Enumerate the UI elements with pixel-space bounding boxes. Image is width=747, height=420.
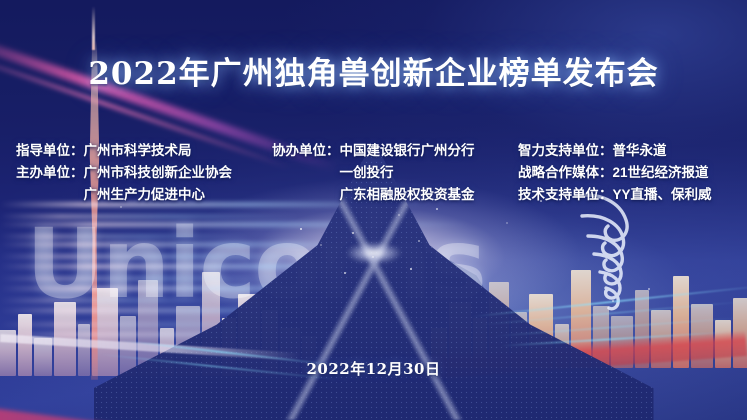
sparkle <box>344 272 346 274</box>
sparkle <box>300 228 302 230</box>
credits-column-left: 指导单位：广州市科学技术局主办单位：广州市科技创新企业协会主办单位：广州生产力促… <box>16 140 232 206</box>
credit-row: 指导单位：广州市科学技术局 <box>16 140 232 162</box>
event-date: 2022年12月30日 <box>0 358 747 379</box>
credit-value: 广州市科学技术局 <box>84 140 192 162</box>
credit-value: YY直播、保利威 <box>613 184 712 206</box>
light-streak <box>0 298 240 303</box>
credit-value: 普华永道 <box>613 140 667 162</box>
credit-row: 智力支持单位：普华永道 <box>518 140 712 162</box>
event-poster: Unicorns 2022年广州独角兽创新企业榜单发布会 指导单位：广州市科学技… <box>0 0 747 420</box>
credit-row: 协办单位：一创投行 <box>272 162 475 184</box>
sparkle <box>648 288 650 290</box>
credits-column-right: 智力支持单位：普华永道战略合作媒体：21世纪经济报道技术支持单位：YY直播、保利… <box>518 140 712 206</box>
sparkle <box>612 300 614 302</box>
credit-value: 广州生产力促进中心 <box>84 184 206 206</box>
sponsor-credits: 指导单位：广州市科学技术局主办单位：广州市科技创新企业协会主办单位：广州生产力促… <box>0 140 747 218</box>
credit-row: 技术支持单位：YY直播、保利威 <box>518 184 712 206</box>
credit-row: 主办单位：广州市科技创新企业协会 <box>16 162 232 184</box>
credit-value: 21世纪经济报道 <box>613 162 709 184</box>
credit-label: 技术支持单位： <box>518 184 613 206</box>
credit-row: 战略合作媒体：21世纪经济报道 <box>518 162 712 184</box>
credit-row: 主办单位：广州生产力促进中心 <box>16 184 232 206</box>
credit-label: 智力支持单位： <box>518 140 613 162</box>
credit-label: 战略合作媒体： <box>518 162 613 184</box>
light-streak <box>0 276 280 281</box>
credits-column-middle: 协办单位：中国建设银行广州分行协办单位：一创投行协办单位：广东相融股权投资基金 <box>272 140 475 206</box>
sparkle <box>320 244 322 246</box>
credit-row: 协办单位：中国建设银行广州分行 <box>272 140 475 162</box>
sparkle <box>372 256 374 258</box>
credit-row: 协办单位：广东相融股权投资基金 <box>272 184 475 206</box>
light-streak <box>0 234 250 239</box>
credit-value: 广州市科技创新企业协会 <box>84 162 233 184</box>
sparkle <box>352 232 354 234</box>
credit-value: 广东相融股权投资基金 <box>340 184 475 206</box>
credit-value: 一创投行 <box>340 162 394 184</box>
light-streak <box>0 254 330 259</box>
credit-label: 指导单位： <box>16 140 84 162</box>
sparkle <box>506 222 508 224</box>
credit-value: 中国建设银行广州分行 <box>340 140 475 162</box>
page-title: 2022年广州独角兽创新企业榜单发布会 <box>0 48 747 93</box>
canton-tower-spire-icon <box>92 6 95 50</box>
sparkle <box>410 268 412 270</box>
credit-label: 协办单位： <box>272 140 340 162</box>
credit-label: 主办单位： <box>16 162 84 184</box>
summit-glow-icon <box>346 242 402 264</box>
sparkle <box>418 240 420 242</box>
